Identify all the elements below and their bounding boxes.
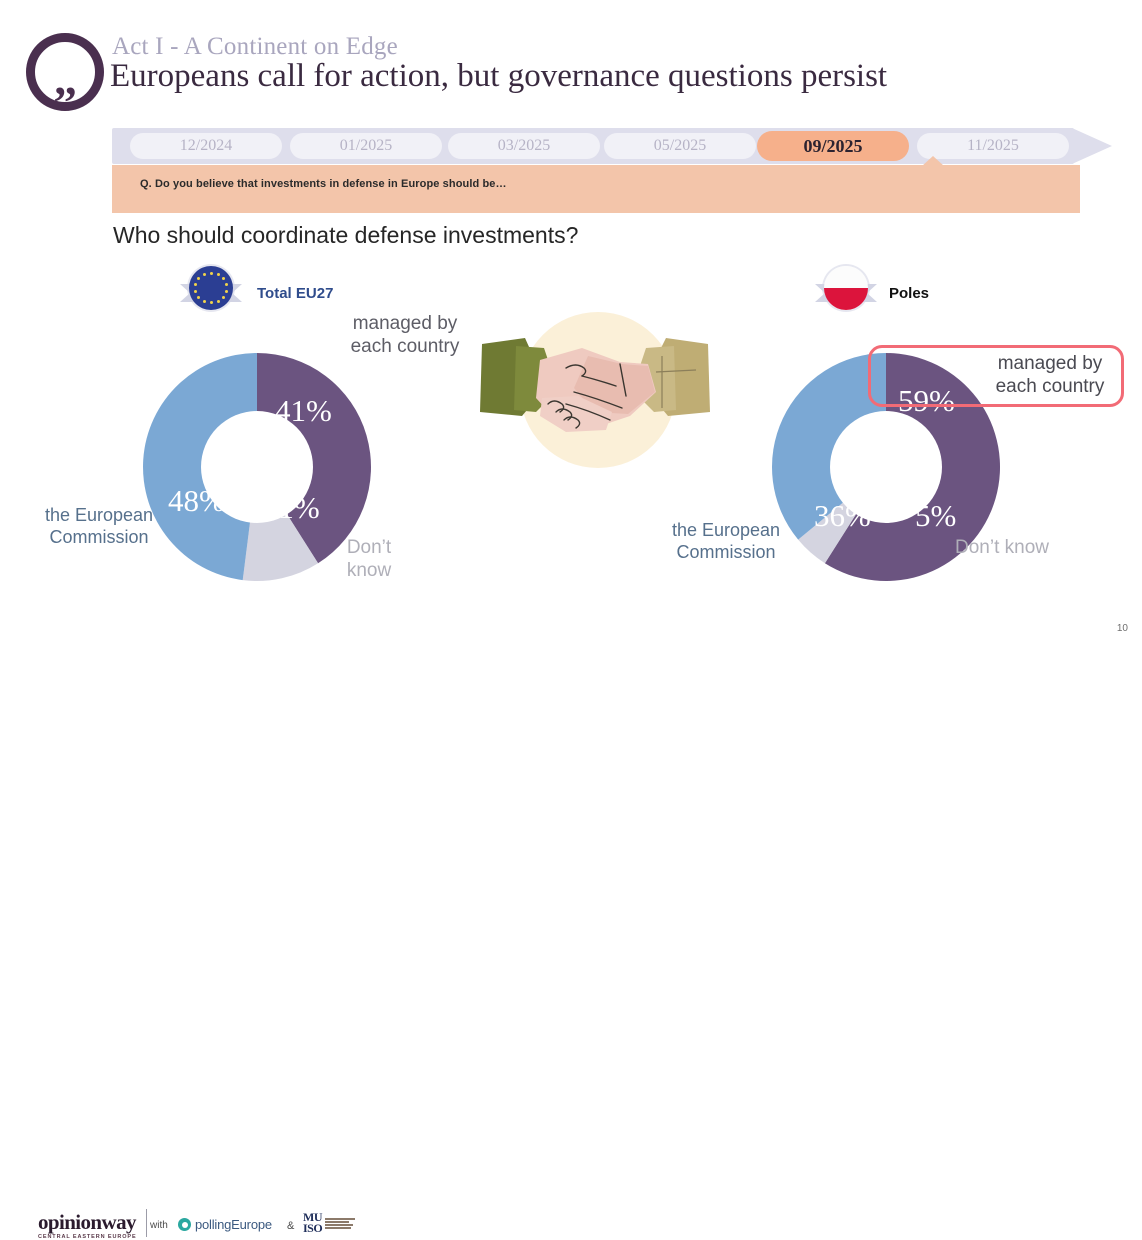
label-dont-know-eu: Don’t know <box>330 537 408 583</box>
label-dont-know-poles: Don’t know <box>955 537 1095 560</box>
timeline-item-1[interactable]: 01/2025 <box>290 133 442 159</box>
polling-europe-name: pollingEurope <box>195 1217 272 1232</box>
eu-badge-label: Total EU27 <box>257 285 333 302</box>
label-managed-by-each-country-eu: managed by each country <box>330 313 480 359</box>
value-label-11: 11% <box>264 490 320 526</box>
question-bar: Q. Do you believe that investments in de… <box>112 165 1080 213</box>
polling-europe-logo: pollingEurope <box>178 1217 272 1232</box>
footer-with-label: with <box>150 1220 168 1231</box>
poland-flag-disc <box>824 266 868 310</box>
slide: ,, Act I - A Continent on Edge Europeans… <box>0 0 1142 642</box>
timeline: 12/2024 01/2025 03/2025 05/2025 09/2025 … <box>112 128 1112 164</box>
eu-flag-icon <box>180 264 242 320</box>
value-label-41: 41% <box>275 393 332 429</box>
timeline-item-4-active[interactable]: 09/2025 <box>757 131 909 161</box>
footer-ampersand: & <box>287 1220 294 1232</box>
footer: opinionway CENTRAL EASTERN EUROPE with p… <box>0 600 1142 642</box>
footer-divider <box>146 1209 147 1237</box>
opinionway-subtitle: CENTRAL EASTERN EUROPE <box>38 1234 137 1240</box>
poland-badge-label: Poles <box>889 285 929 302</box>
page-number: 10 <box>1117 623 1128 634</box>
eu-flag-disc <box>189 266 233 310</box>
handshake-illustration <box>470 300 720 485</box>
label-european-commission-eu: the European Commission <box>18 505 180 548</box>
page-title: Europeans call for action, but governanc… <box>110 58 887 95</box>
timeline-item-0[interactable]: 12/2024 <box>130 133 282 159</box>
muiso-logo: MU ISO <box>303 1212 355 1235</box>
label-managed-by-each-country-poles: managed by each country <box>980 353 1120 399</box>
muiso-wordmark <box>325 1218 355 1229</box>
timeline-arrow-icon <box>1072 128 1112 164</box>
opinionway-name: opinionway <box>38 1212 137 1233</box>
label-european-commission-poles: the European Commission <box>645 520 807 563</box>
muiso-monogram: MU ISO <box>303 1212 322 1235</box>
timeline-item-2[interactable]: 03/2025 <box>448 133 600 159</box>
poland-flag-icon <box>815 264 877 320</box>
section-title: Who should coordinate defense investment… <box>113 222 578 249</box>
value-label-5: 5% <box>915 498 956 534</box>
opinionway-logo: opinionway CENTRAL EASTERN EUROPE <box>38 1212 137 1240</box>
quote-mark-icon: ,, <box>26 33 104 111</box>
slide-eyebrow: Act I - A Continent on Edge <box>112 33 398 61</box>
polling-europe-icon <box>178 1218 191 1231</box>
question-bar-pointer <box>922 156 944 166</box>
value-label-36: 36% <box>814 498 871 534</box>
question-text: Q. Do you believe that investments in de… <box>140 178 507 190</box>
quote-glyph: ,, <box>55 56 76 102</box>
timeline-item-3[interactable]: 05/2025 <box>604 133 756 159</box>
